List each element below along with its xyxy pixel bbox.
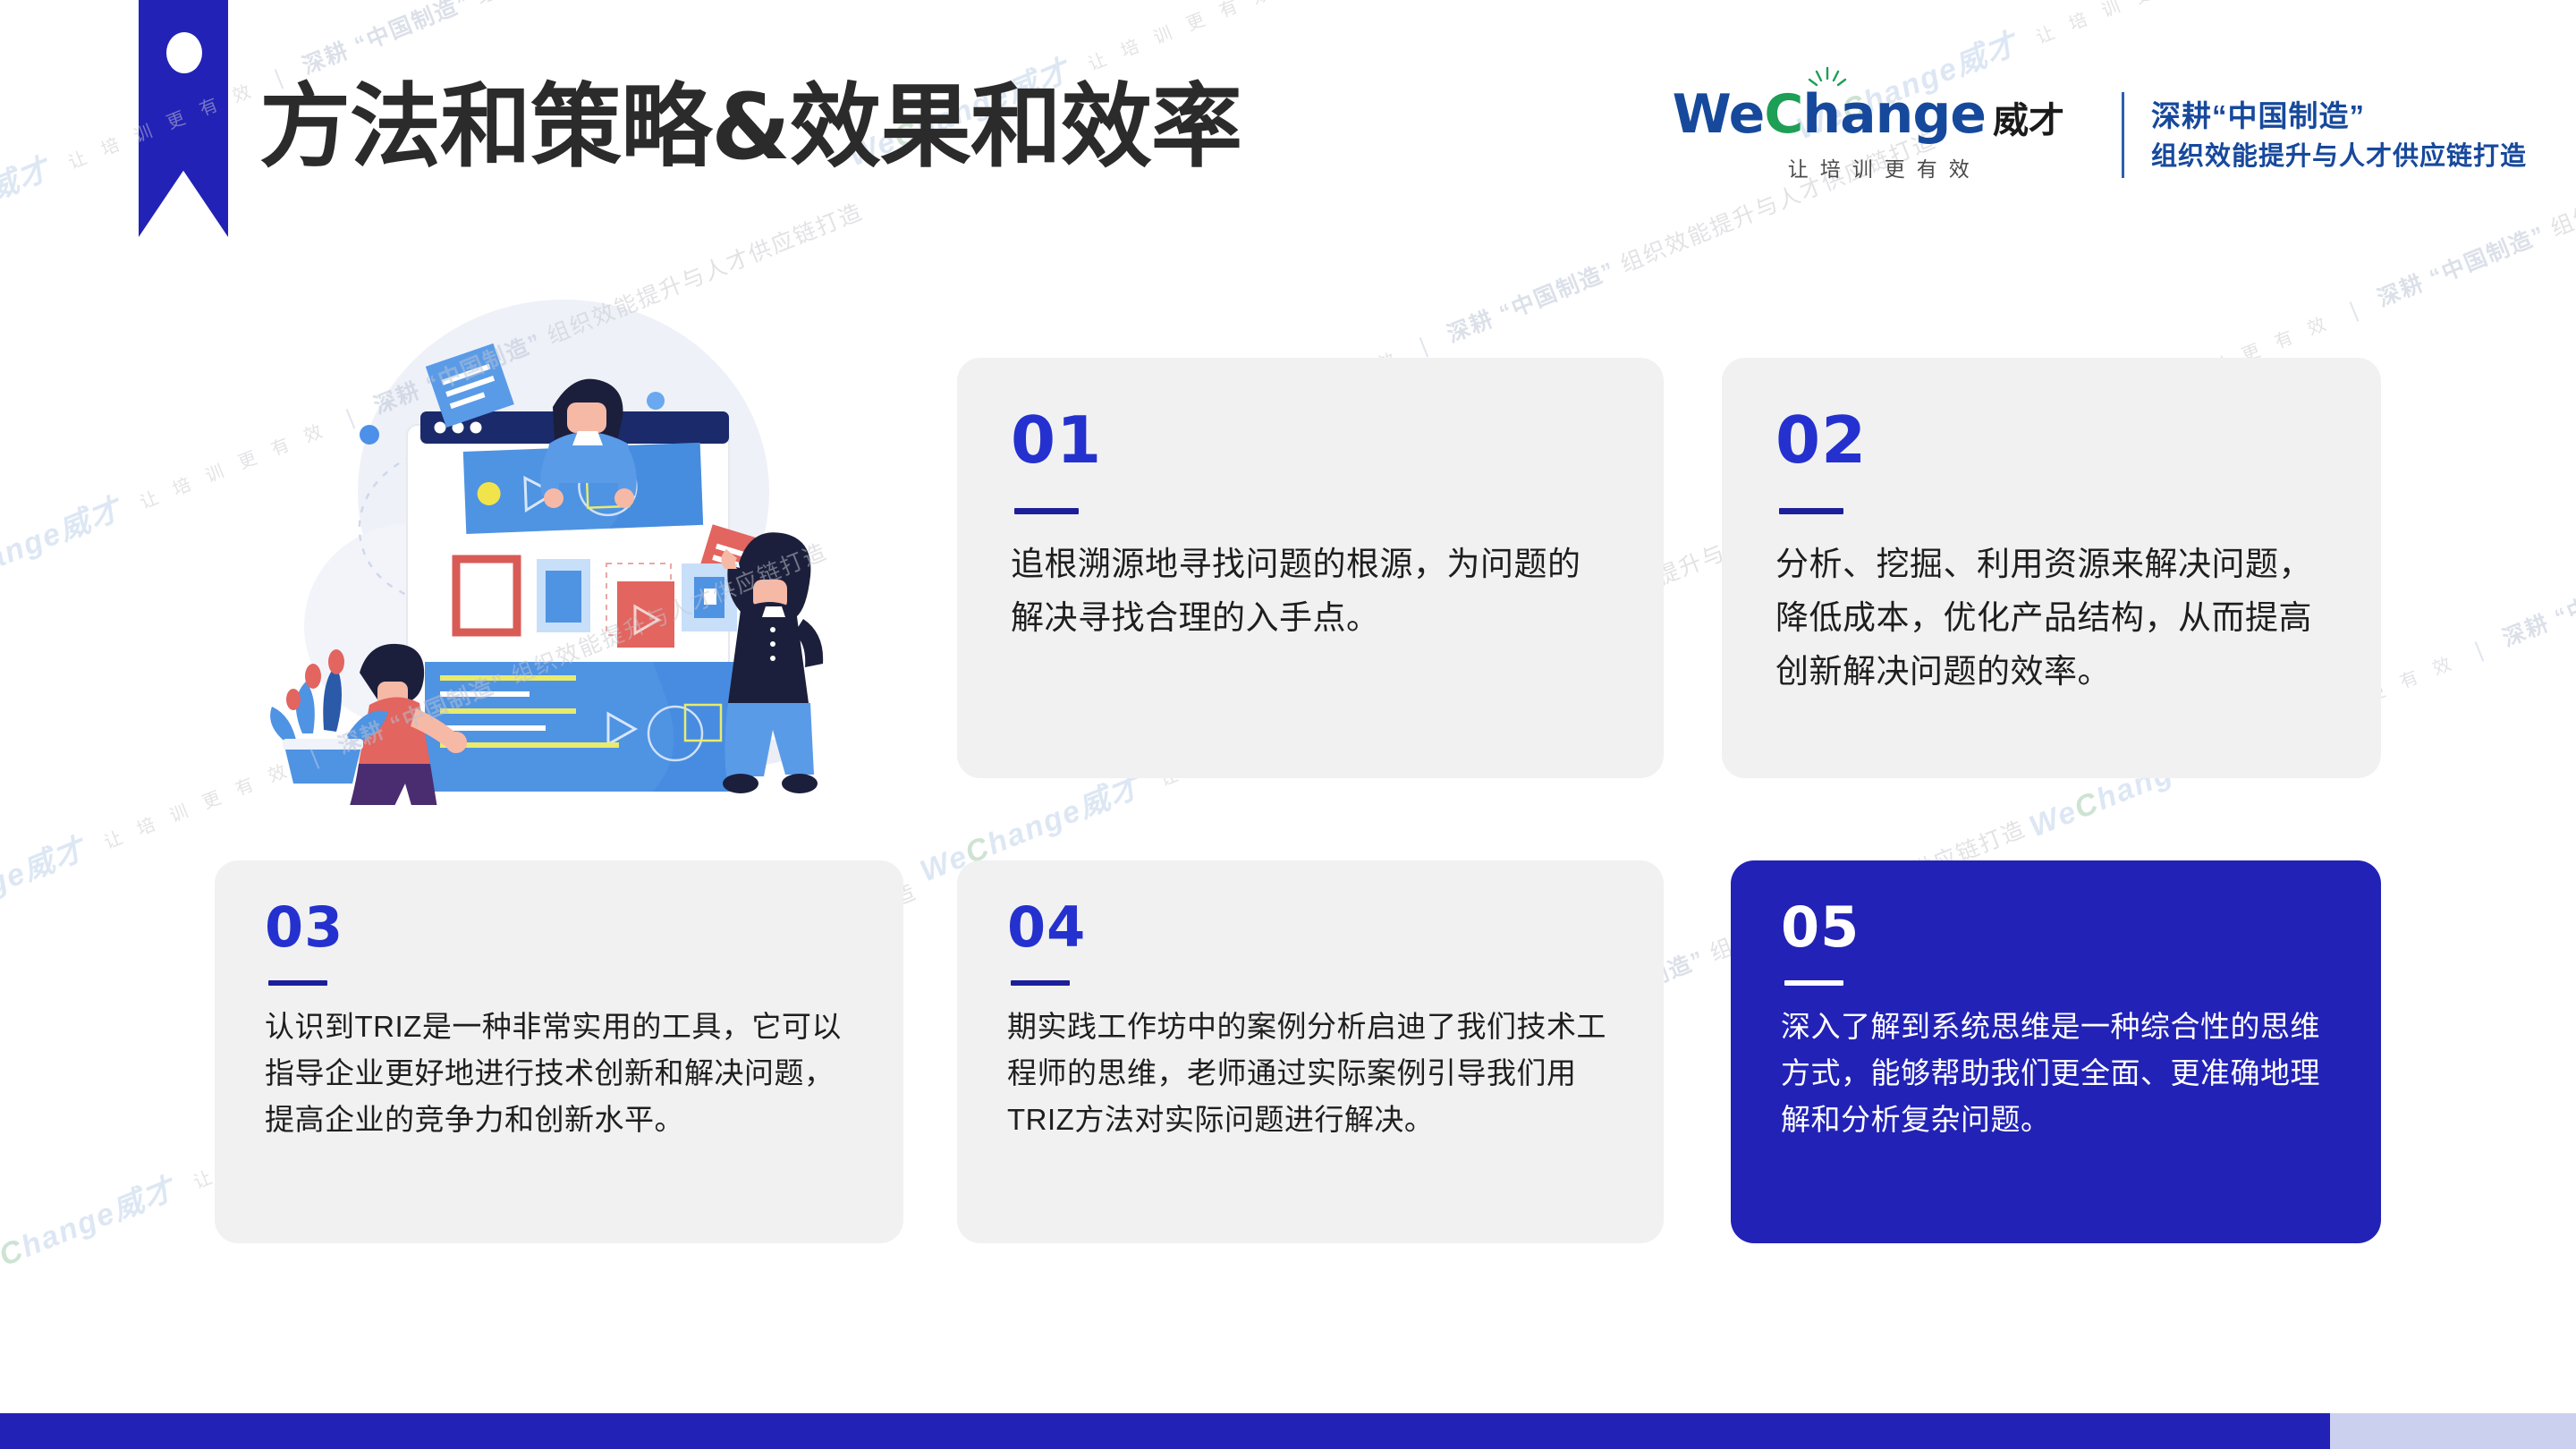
card-rule bbox=[1784, 980, 1843, 986]
point-card-04[interactable]: 04 期实践工作坊中的案例分析启迪了我们技术工程师的思维，老师通过实际案例引导我… bbox=[957, 860, 1664, 1243]
brand-wordmark: WeChange威才 bbox=[1673, 88, 2064, 141]
card-text: 深入了解到系统思维是一种综合性的思维方式，能够帮助我们更全面、更准确地理解和分析… bbox=[1781, 1004, 2331, 1143]
brand-slogan-block: 深耕“中国制造” 组织效能提升与人才供应链打造 bbox=[2151, 95, 2527, 175]
brand-hange: hange bbox=[1802, 88, 1986, 141]
brand-we: We bbox=[1673, 88, 1765, 141]
brand-divider bbox=[2122, 92, 2124, 178]
watermark-cn-main: 深耕 “中国制造” bbox=[2374, 222, 2549, 312]
watermark-cn-sub: 组织效能提升与人才供应链打造 bbox=[2547, 92, 2576, 242]
watermark-logo: WeChange威才 bbox=[0, 492, 127, 612]
brand-logo: WeChange威才 让培训更有效 深耕“中国制造” 组织效能提升与人才供应链打… bbox=[1673, 88, 2527, 182]
card-text: 认识到TRIZ是一种非常实用的工具，它可以指导企业更好地进行技术创新和解决问题，… bbox=[265, 1004, 853, 1143]
footer-bar-primary bbox=[0, 1413, 2330, 1449]
card-number: 03 bbox=[265, 900, 853, 955]
brand-name-cn: 威才 bbox=[1993, 103, 2064, 139]
watermark-sub: 让 培 训 更 有 效 bbox=[2033, 0, 2227, 48]
point-card-05[interactable]: 05 深入了解到系统思维是一种综合性的思维方式，能够帮助我们更全面、更准确地理解… bbox=[1731, 860, 2381, 1243]
point-card-01[interactable]: 01 追根溯源地寻找问题的根源，为问题的解决寻找合理的入手点。 bbox=[957, 358, 1664, 778]
sparkle-icon bbox=[1807, 66, 1848, 93]
watermark-cn-main: 深耕 “中国制造” bbox=[1444, 258, 1619, 348]
card-number: 04 bbox=[1007, 900, 1614, 955]
watermark-divider: | bbox=[1416, 333, 1432, 359]
watermark-logo: WeChange威才 bbox=[0, 832, 91, 952]
brand-tagline: 让培训更有效 bbox=[1673, 152, 2064, 182]
brand-slogan-line2: 组织效能提升与人才供应链打造 bbox=[2151, 138, 2527, 175]
watermark-divider: | bbox=[2471, 637, 2487, 663]
card-number: 01 bbox=[1011, 408, 1610, 472]
brand-c: C bbox=[1764, 88, 1802, 141]
point-card-03[interactable]: 03 认识到TRIZ是一种非常实用的工具，它可以指导企业更好地进行技术创新和解决… bbox=[215, 860, 903, 1243]
watermark-cn-main: 深耕 “中国制造” bbox=[2499, 562, 2576, 652]
card-number: 02 bbox=[1775, 408, 2327, 472]
card-rule bbox=[268, 980, 327, 986]
card-text: 分析、挖掘、利用资源来解决问题，降低成本，优化产品结构，从而提高创新解决问题的效… bbox=[1775, 538, 2327, 699]
footer-bar bbox=[0, 1413, 2576, 1449]
card-rule bbox=[1014, 508, 1079, 514]
card-rule bbox=[1779, 508, 1843, 514]
slide-canvas: 方法和策略&效果和效率 WeChange威才 让培训更有效 深耕“中 bbox=[0, 0, 2576, 1449]
footer-bar-accent bbox=[2330, 1413, 2576, 1449]
watermark-sub: 让 培 训 更 有 效 bbox=[1085, 0, 1279, 75]
point-card-02[interactable]: 02 分析、挖掘、利用资源来解决问题，降低成本，优化产品结构，从而提高创新解决问… bbox=[1722, 358, 2381, 778]
brand-logo-left: WeChange威才 让培训更有效 bbox=[1673, 88, 2095, 182]
watermark-logo: WeChange威才 bbox=[0, 152, 55, 272]
card-rule bbox=[1011, 980, 1070, 986]
card-text: 追根溯源地寻找问题的根源，为问题的解决寻找合理的入手点。 bbox=[1011, 538, 1610, 645]
brand-slogan-line1: 深耕“中国制造” bbox=[2151, 95, 2527, 138]
ribbon-dot-icon bbox=[166, 32, 202, 73]
watermark-logo: WeChange威才 bbox=[0, 1172, 181, 1292]
card-number: 05 bbox=[1781, 900, 2331, 955]
watermark-cn-sub: 组织效能提升与人才供应链打造 bbox=[472, 0, 795, 9]
watermark-divider: | bbox=[2346, 297, 2362, 323]
page-title: 方法和策略&效果和效率 bbox=[259, 82, 1241, 174]
team-building-illustration bbox=[188, 268, 903, 805]
card-text: 期实践工作坊中的案例分析启迪了我们技术工程师的思维，老师通过实际案例引导我们用T… bbox=[1007, 1004, 1614, 1143]
watermark-cn-main: 深耕 “中国制造” bbox=[299, 0, 474, 79]
